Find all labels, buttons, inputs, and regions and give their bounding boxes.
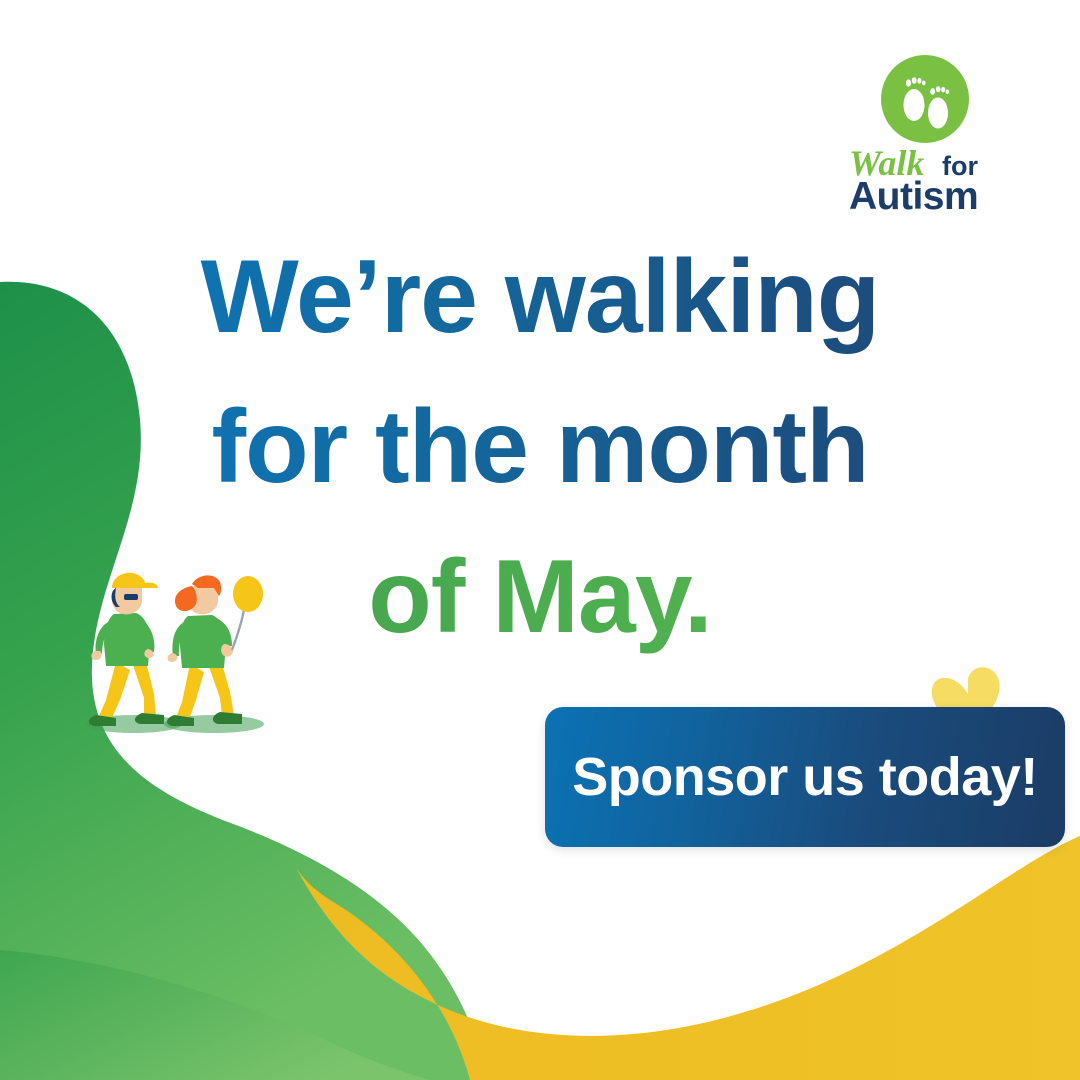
footprints-circle-icon xyxy=(881,55,969,143)
walker-boy xyxy=(89,573,164,726)
logo-word-autism: Autism xyxy=(849,175,978,215)
headline-line-1: We’re walking xyxy=(0,222,1080,372)
boy-sunglasses xyxy=(124,594,138,600)
sponsor-us-today-button[interactable]: Sponsor us today! xyxy=(545,707,1065,847)
balloon-string xyxy=(232,610,244,650)
poster-canvas: Walk for Autism We’re walking for the mo… xyxy=(0,0,1080,1080)
logo-wordmark: Walk for Autism xyxy=(845,143,1025,215)
walkers-illustration xyxy=(72,558,294,758)
headline-line-2: for the month xyxy=(0,372,1080,522)
walk-for-autism-logo[interactable]: Walk for Autism xyxy=(845,55,1025,215)
walker-girl xyxy=(167,575,263,726)
sponsor-button-label: Sponsor us today! xyxy=(572,746,1038,808)
